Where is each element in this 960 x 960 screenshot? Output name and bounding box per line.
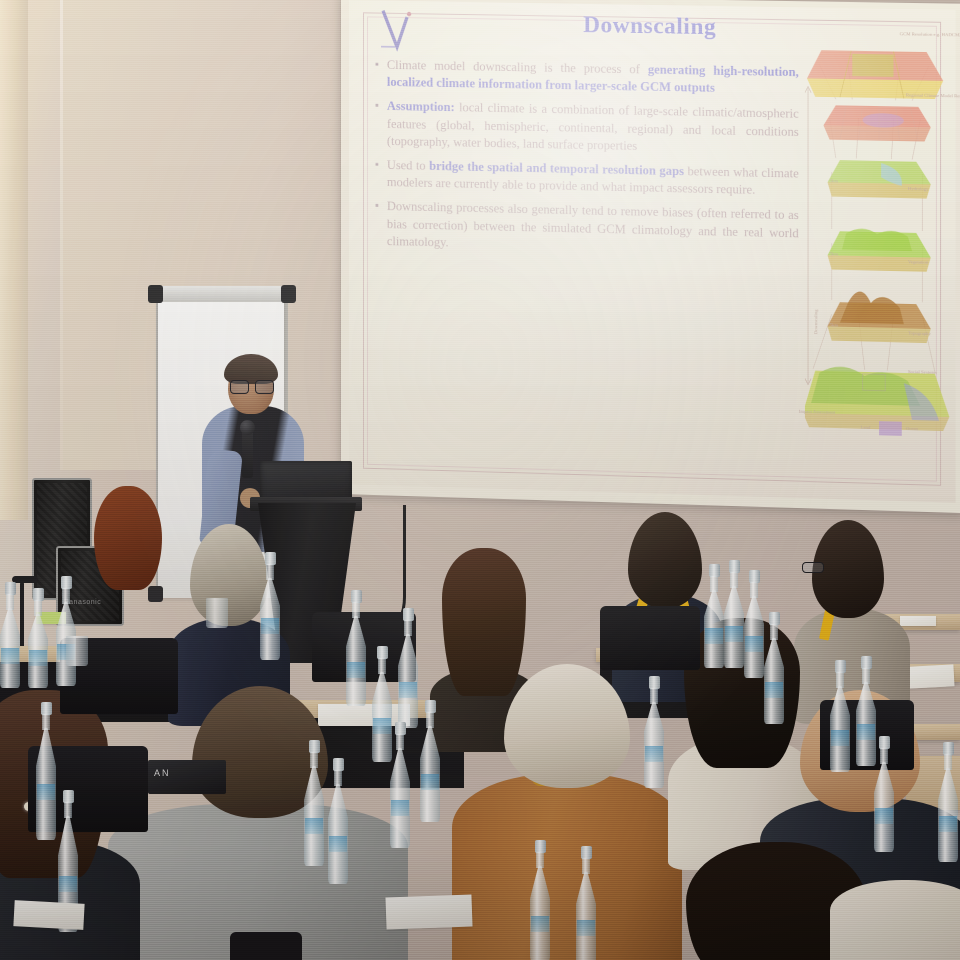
bottle-body [398,634,418,728]
bottle-label [577,920,595,936]
bullet-dot-icon: ▪ [375,57,379,92]
bottle-neck [310,752,318,768]
bottle-label [725,626,743,642]
bottle-body [260,578,280,660]
water-bottle [420,700,440,824]
bullet-dot-icon: ▪ [375,157,379,192]
bullet-text: Downscaling processes also generally ten… [387,198,799,259]
projection-screen: Downscaling ▪ Climate model downscaling … [341,0,960,513]
paper-sheet [13,900,84,930]
bottle-neck [6,594,14,610]
bottle-body [0,608,20,688]
water-bottle [398,608,418,728]
bottle-body [372,672,392,762]
bottle-body [304,766,324,866]
chair-back [230,932,302,960]
bottle-neck [730,572,738,588]
bottle-neck [944,754,952,770]
bottle-neck [64,802,72,818]
bottle-neck [750,582,758,598]
plate-hydrology [828,160,931,199]
wall-left-highlight [0,0,28,520]
bottle-body [744,596,764,678]
audience-laptop: AN [148,760,226,794]
diagram-legend-ocean: Ocean [906,426,918,432]
bottle-neck [836,672,844,688]
water-bottle [938,742,958,864]
bottle-body [856,682,876,766]
bullet-text: Climate model downscaling is the process… [387,57,799,99]
water-bottle [644,676,664,788]
bottle-label [765,682,783,698]
slide-bullet: ▪ Climate model downscaling is the proce… [375,57,799,99]
eyeglasses-icon [802,562,824,573]
water-bottle [328,758,348,888]
bottle-label [421,774,439,790]
audience-head [94,486,162,590]
bottle-neck [404,620,412,636]
plate-rcm [823,105,930,142]
bottle-neck [266,564,274,580]
water-bottle [304,740,324,870]
bottle-neck [650,688,658,704]
slide-bullet: ▪ Used to bridge the spatial and tempora… [375,157,799,201]
flipchart-clamp [148,285,163,303]
bottle-body [938,768,958,862]
downscaling-pyramid-diagram: GCM Resolution e.g. HADCM2 2.5o x 3.75o … [805,30,949,440]
diagram-label-vegetation: Vegetation [908,259,928,266]
water-bottle [0,582,20,688]
slide-bullet-list: ▪ Climate model downscaling is the proce… [375,57,799,267]
bottle-neck [536,852,544,868]
audience-head [628,512,702,608]
chair [600,606,700,670]
bottle-body [28,614,48,688]
bottle-body [576,872,596,960]
water-bottle [372,646,392,762]
bottle-body [704,590,724,668]
bottle-neck [880,748,888,764]
microphone-head-icon [240,420,255,435]
bottle-neck [62,588,70,604]
water-bottle [346,590,366,706]
audience-head [504,664,630,788]
laptop-logo: AN [154,768,171,778]
eyeglasses-icon [230,380,272,392]
diagram-axis-label: Downscaling [813,309,819,334]
bottle-label [391,800,409,816]
bottle-label [329,836,347,852]
projected-slide: Downscaling ▪ Climate model downscaling … [349,0,956,503]
water-bottle [724,560,744,668]
bottle-body [830,686,850,772]
diagram-label-hydrology: Hydrology [908,186,929,193]
plate-scale-label: 5km [830,322,838,328]
bottle-label [373,718,391,734]
bottle-neck [862,668,870,684]
presentation-photo: Downscaling ▪ Climate model downscaling … [0,0,960,960]
diagram-label-social-systems: Social Systems [908,369,937,376]
water-bottle [744,570,764,678]
water-bottle [56,576,76,686]
bottle-neck [426,712,434,728]
flipchart-clamp [281,285,296,303]
plate-scale-label: 5km [830,178,838,184]
bottle-label [1,648,19,664]
bottle-body [644,702,664,788]
bottle-label [531,916,549,932]
bottle-body [346,616,366,706]
bottle-body [724,586,744,668]
water-bottle [856,656,876,766]
bottle-neck [582,858,590,874]
wall-seam [60,0,63,470]
audience-member-front-right-shoulder [830,880,960,960]
bottle-body [420,726,440,822]
downscaling-arrow [805,86,811,384]
water-bottle [260,552,280,660]
flipchart-top-rail [150,286,295,302]
bottle-neck [334,770,342,786]
bottle-label [705,628,723,644]
water-bottle [530,840,550,960]
drinking-glass [66,636,88,666]
bottle-neck [352,602,360,618]
bottle-neck [34,600,42,616]
bullet-text: Used to bridge the spatial and temporal … [387,157,799,200]
water-bottle [704,564,724,668]
pyramid-svg [805,30,949,440]
bottle-label [37,784,55,800]
bottle-label [857,724,875,740]
plate-scale-label: 5km [830,251,838,257]
bottle-body [390,748,410,848]
paper-sheet [385,895,472,930]
water-bottle [36,702,56,846]
drinking-glass [206,598,228,628]
legend-swatch [879,421,902,436]
slide-bullet: ▪ Assumption: local climate is a combina… [375,98,799,158]
bottle-neck [378,658,386,674]
bullet-text: Assumption: local climate is a combinati… [387,98,799,158]
water-bottle [390,722,410,852]
bottle-body [530,866,550,960]
bottle-label [645,746,663,762]
bottle-body [36,728,56,840]
water-bottle [764,612,784,724]
audience-member-grey-jacket [108,686,408,960]
bottle-label [831,730,849,746]
audience-head [190,524,268,626]
diagram-bottom-label: Impact Assessment [799,409,835,416]
bottle-label [305,818,323,834]
bottle-neck [42,714,50,730]
bottle-label [347,662,365,678]
water-bottle [576,846,596,960]
bullet-dot-icon: ▪ [375,98,379,150]
slide-bullet: ▪ Downscaling processes also generally t… [375,198,799,260]
bottle-label [261,618,279,634]
bottle-body [764,638,784,724]
bottle-label [29,650,47,666]
diagram-legend-land: Land [861,425,871,431]
water-bottle [874,736,894,854]
water-bottle [28,588,48,688]
water-bottle [830,660,850,772]
bottle-label [59,876,77,892]
bullet-dot-icon: ▪ [375,198,379,250]
bottle-body [328,784,348,884]
bottle-label [745,636,763,652]
bottle-neck [396,734,404,750]
diagram-label-topography: Topography [908,330,931,337]
bottle-body [874,762,894,852]
bottle-neck [710,576,718,592]
bottle-neck [770,624,778,640]
bottle-label [939,816,957,832]
audience-torso [830,880,960,960]
bottle-label [399,682,417,698]
audience-torso [452,774,682,960]
bottle-label [875,808,893,824]
